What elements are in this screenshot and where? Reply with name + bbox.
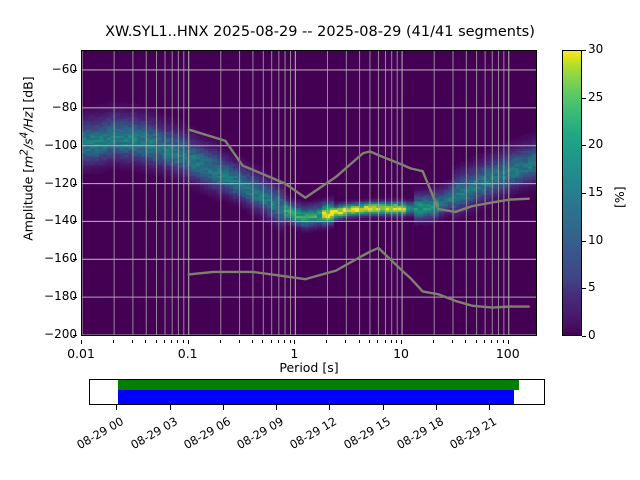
timeline-date-label: 08-29 09	[234, 414, 286, 452]
timeline-date-label: 08-29 06	[181, 414, 233, 452]
timeline-date-label: 08-29 12	[287, 414, 339, 452]
timeline-date-label: 08-29 03	[128, 414, 180, 452]
timeline-date-label: 08-29 15	[340, 414, 392, 452]
timeline-date-label: 08-29 00	[74, 414, 126, 452]
timeline-date-label: 08-29 21	[447, 414, 499, 452]
timeline-date-labels: 08-29 0008-29 0308-29 0608-29 0908-29 12…	[0, 0, 640, 480]
timeline-date-label: 08-29 18	[394, 414, 446, 452]
ppsd-figure: XW.SYL1..HNX 2025-08-29 -- 2025-08-29 (4…	[0, 0, 640, 480]
